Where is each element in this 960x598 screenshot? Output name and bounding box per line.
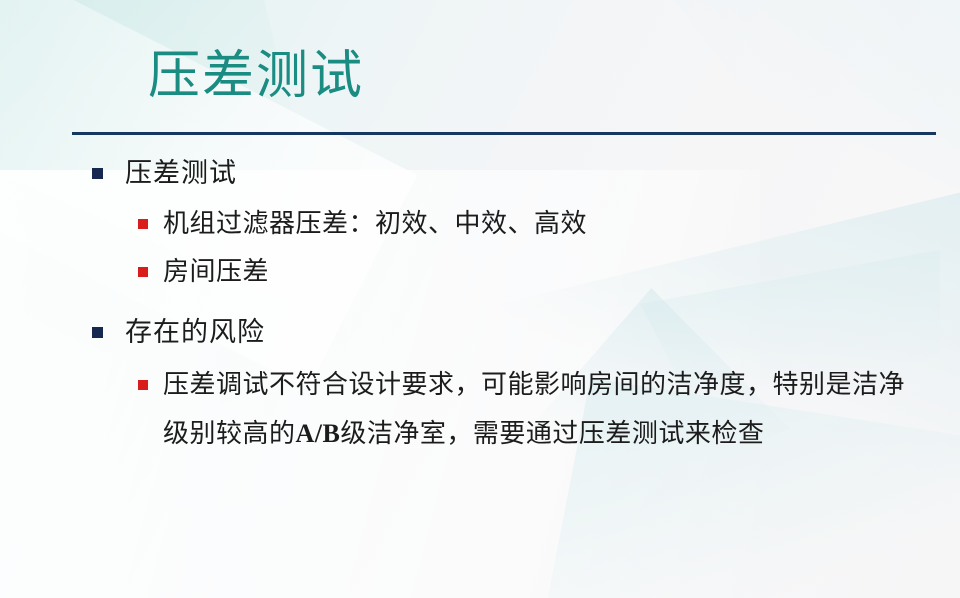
slide-canvas: 压差测试 压差测试 机组过滤器压差：初效、中效、高效 房间压差 存在的风险 压差…: [0, 0, 960, 598]
bullet-level2-filter-pressure: 机组过滤器压差：初效、中效、高效: [0, 201, 960, 246]
title-underline-rule: [72, 132, 936, 135]
bullet-level2-risk-description: 压差调试不符合设计要求，可能影响房间的洁净度，特别是洁净级别较高的A/B级洁净室…: [0, 360, 960, 458]
section-spacer: [0, 297, 960, 311]
square-bullet-red-icon: [138, 219, 148, 229]
slide-title: 压差测试: [148, 49, 364, 104]
square-bullet-red-icon: [138, 267, 148, 277]
slide-body: 压差测试 机组过滤器压差：初效、中效、高效 房间压差 存在的风险 压差调试不符合…: [0, 152, 960, 461]
square-bullet-navy-icon: [92, 327, 103, 338]
bullet-level1-existing-risk: 存在的风险: [0, 311, 960, 354]
bullet-level2-label: 房间压差: [163, 256, 269, 286]
square-bullet-navy-icon: [92, 168, 103, 179]
risk-text-part2: 级洁净室，需要通过压差测试来检查: [340, 418, 764, 448]
bullet-level1-pressure-test: 压差测试: [0, 152, 960, 195]
bullet-level1-label: 压差测试: [125, 158, 237, 188]
bullet-level2-label: 机组过滤器压差：初效、中效、高效: [163, 208, 587, 238]
bullet-level1-label: 存在的风险: [125, 317, 265, 347]
square-bullet-red-icon: [138, 380, 148, 390]
risk-text-emphasis: A/B: [296, 419, 341, 448]
bullet-level2-room-pressure: 房间压差: [0, 249, 960, 294]
